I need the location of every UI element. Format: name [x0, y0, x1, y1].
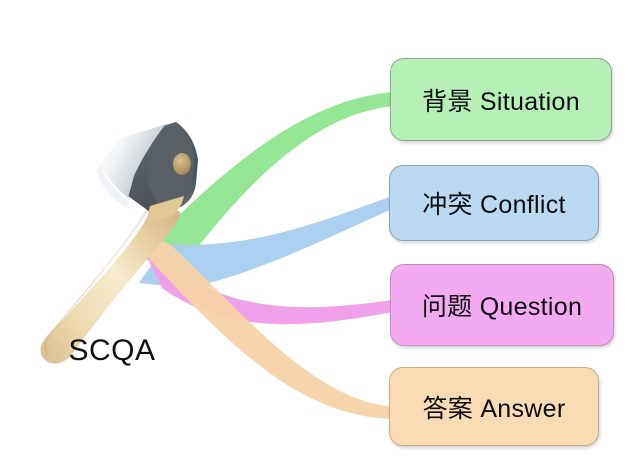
node-conflict[interactable]: 冲突 Conflict — [389, 165, 599, 241]
node-answer[interactable]: 答案 Answer — [389, 367, 599, 446]
node-question[interactable]: 问题 Question — [390, 264, 614, 346]
node-situation-label: 背景 Situation — [422, 82, 580, 118]
node-answer-label: 答案 Answer — [422, 389, 565, 425]
scqa-title: SCQA — [52, 334, 172, 368]
node-question-label: 问题 Question — [422, 287, 582, 323]
axe-eye — [173, 153, 191, 175]
diagram-canvas: 背景 Situation 冲突 Conflict 问题 Question 答案 … — [0, 0, 640, 476]
node-situation[interactable]: 背景 Situation — [390, 58, 612, 141]
node-conflict-label: 冲突 Conflict — [422, 185, 566, 221]
